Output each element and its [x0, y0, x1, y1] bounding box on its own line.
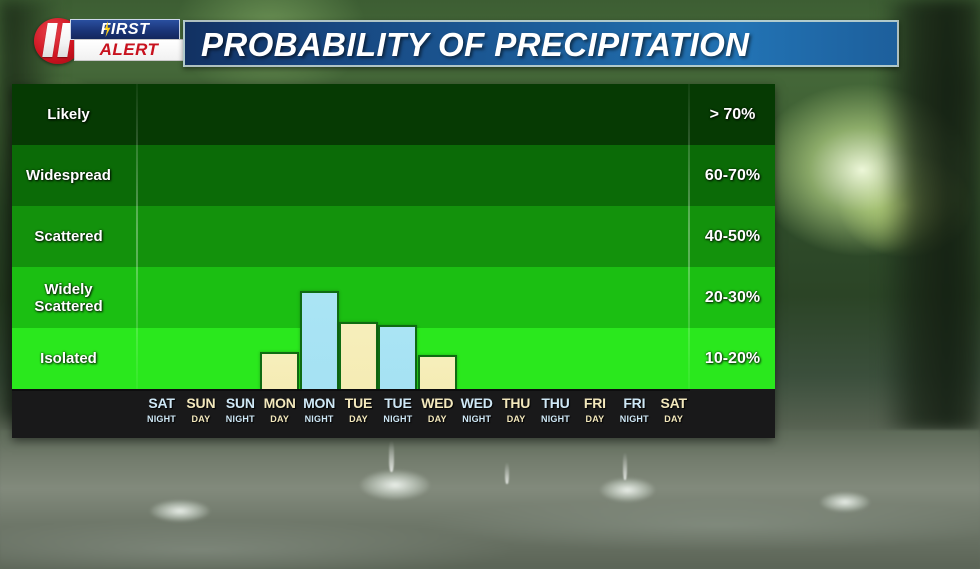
- day-axis-strip: SATNIGHTSUNDAYSUNNIGHTMONDAYMONNIGHTTUED…: [12, 389, 690, 438]
- axis-period-label: DAY: [339, 413, 378, 425]
- precipitation-bar: [418, 355, 457, 389]
- background-wet-pavement: [0, 430, 980, 569]
- axis-period-label: NIGHT: [536, 413, 575, 425]
- axis-day-label: SUN: [221, 395, 260, 411]
- axis-period-label: NIGHT: [457, 413, 496, 425]
- axis-label-cell: SUNNIGHT: [221, 395, 260, 425]
- axis-day-label: MON: [260, 395, 299, 411]
- precipitation-chart-panel: Likely> 70%Widespread60-70%Scattered40-5…: [12, 84, 775, 438]
- axis-period-label: NIGHT: [378, 413, 417, 425]
- axis-period-label: NIGHT: [142, 413, 181, 425]
- axis-day-label: TUE: [378, 395, 417, 411]
- axis-day-label: MON: [300, 395, 339, 411]
- precipitation-bar: [300, 291, 339, 389]
- axis-day-label: SAT: [654, 395, 693, 411]
- precipitation-bar: [339, 322, 378, 389]
- axis-period-label: DAY: [260, 413, 299, 425]
- band-range-label: 10-20%: [690, 328, 775, 389]
- precipitation-bar: [378, 325, 417, 389]
- axis-day-label: THU: [497, 395, 536, 411]
- band-category-label: WidelyScattered: [12, 267, 125, 328]
- axis-period-label: DAY: [497, 413, 536, 425]
- axis-label-cell: MONNIGHT: [300, 395, 339, 425]
- axis-label-cell: MONDAY: [260, 395, 299, 425]
- axis-label-cell: SUNDAY: [181, 395, 220, 425]
- axis-day-label: FRI: [615, 395, 654, 411]
- axis-label-cell: TUENIGHT: [378, 395, 417, 425]
- axis-label-cell: FRINIGHT: [615, 395, 654, 425]
- axis-label-cell: FRIDAY: [575, 395, 614, 425]
- axis-day-label: WED: [418, 395, 457, 411]
- axis-period-label: NIGHT: [615, 413, 654, 425]
- axis-day-label: TUE: [339, 395, 378, 411]
- axis-day-label: WED: [457, 395, 496, 411]
- axis-day-label: THU: [536, 395, 575, 411]
- rain-drop: [389, 440, 394, 472]
- bars-plot-area: [138, 84, 688, 389]
- axis-day-label: FRI: [575, 395, 614, 411]
- axis-label-cell: WEDNIGHT: [457, 395, 496, 425]
- axis-period-label: NIGHT: [221, 413, 260, 425]
- band-category-label: Scattered: [12, 206, 125, 267]
- axis-period-label: DAY: [575, 413, 614, 425]
- axis-day-label: SUN: [181, 395, 220, 411]
- axis-label-cell: WEDDAY: [418, 395, 457, 425]
- axis-period-label: NIGHT: [300, 413, 339, 425]
- axis-strip-filler: [690, 389, 775, 438]
- band-category-label: Likely: [12, 84, 125, 145]
- band-category-label: Widespread: [12, 145, 125, 206]
- band-category-label: Isolated: [12, 328, 125, 389]
- band-range-label: 20-30%: [690, 267, 775, 328]
- axis-day-label: SAT: [142, 395, 181, 411]
- axis-period-label: DAY: [418, 413, 457, 425]
- axis-label-cell: SATDAY: [654, 395, 693, 425]
- rain-drop: [505, 462, 509, 484]
- precipitation-bar: [260, 352, 299, 389]
- band-range-label: 60-70%: [690, 145, 775, 206]
- axis-label-cell: THUNIGHT: [536, 395, 575, 425]
- band-range-label: 40-50%: [690, 206, 775, 267]
- axis-label-cell: THUDAY: [497, 395, 536, 425]
- rain-drop: [623, 452, 627, 480]
- band-range-label: > 70%: [690, 84, 775, 145]
- axis-period-label: DAY: [181, 413, 220, 425]
- axis-label-cell: SATNIGHT: [142, 395, 181, 425]
- axis-label-cell: TUEDAY: [339, 395, 378, 425]
- background-tree-trunk: [880, 0, 980, 430]
- weather-graphic: FIRST ALERT PROBABILITY OF PRECIPITATION…: [0, 0, 980, 569]
- axis-period-label: DAY: [654, 413, 693, 425]
